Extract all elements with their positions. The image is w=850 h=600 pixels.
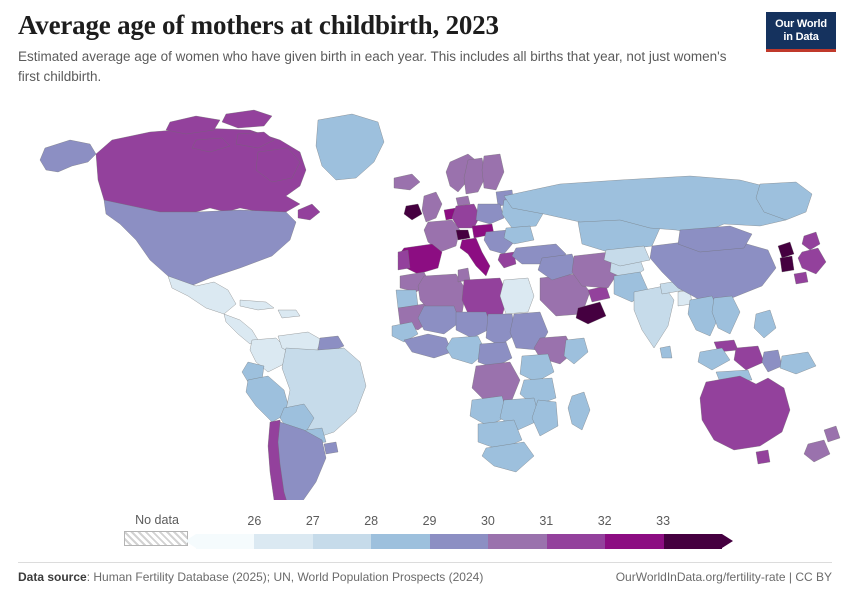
legend-no-data[interactable]: No data — [124, 513, 190, 546]
legend-bin-8[interactable] — [664, 534, 722, 549]
country-hispaniola[interactable] — [278, 310, 300, 318]
legend-tick-7: 33 — [656, 514, 670, 528]
country-kenya-uganda[interactable] — [520, 354, 554, 382]
legend-no-data-label: No data — [124, 513, 190, 527]
country-switzerland[interactable] — [456, 230, 470, 240]
chart-footer: Data source: Human Fertility Database (2… — [18, 562, 832, 594]
country-sri-lanka[interactable] — [660, 346, 672, 358]
page-title: Average age of mothers at childbirth, 20… — [18, 10, 832, 40]
legend-bin-6[interactable] — [547, 534, 605, 549]
owid-chart-root: Average age of mothers at childbirth, 20… — [0, 0, 850, 600]
country-india[interactable] — [634, 286, 674, 348]
map-legend: No data 26 27 28 29 30 31 32 33 — [0, 505, 850, 553]
legend-tick-6: 32 — [598, 514, 612, 528]
country-japan[interactable] — [802, 232, 820, 250]
legend-bin-5[interactable] — [488, 534, 546, 549]
footer-source-text: Human Fertility Database (2025); UN, Wor… — [93, 570, 483, 584]
country-mongolia[interactable] — [678, 226, 752, 252]
country-south-korea[interactable] — [780, 256, 794, 272]
country-central-america[interactable] — [224, 314, 258, 344]
legend-color-ramp[interactable] — [196, 534, 722, 549]
country-denmark[interactable] — [456, 196, 470, 206]
country-new-zealand-south[interactable] — [804, 440, 830, 462]
country-egypt[interactable] — [500, 278, 534, 314]
country-alaska[interactable] — [40, 140, 96, 172]
legend-no-data-swatch — [124, 531, 188, 546]
country-poland[interactable] — [476, 204, 504, 224]
logo-line-2: in Data — [783, 31, 818, 44]
chart-subtitle: Estimated average age of women who have … — [18, 47, 733, 86]
country-mali[interactable] — [418, 306, 460, 334]
legend-tick-labels: 26 27 28 29 30 31 32 33 — [196, 514, 722, 534]
country-finland[interactable] — [482, 154, 504, 190]
country-canada-arctic-2[interactable] — [222, 110, 272, 128]
country-indonesia-borneo[interactable] — [734, 346, 764, 370]
legend-tick-3: 29 — [423, 514, 437, 528]
legend-ramp-cap-left — [185, 534, 196, 548]
footer-source-label: Data source — [18, 570, 87, 584]
country-japan-kyushu[interactable] — [794, 272, 808, 284]
country-new-zealand-north[interactable] — [824, 426, 840, 442]
country-indonesia-sulawesi[interactable] — [762, 350, 782, 372]
country-uruguay[interactable] — [324, 442, 338, 454]
country-ireland[interactable] — [404, 204, 422, 220]
country-papua-new-guinea[interactable] — [780, 352, 816, 374]
legend-bin-4[interactable] — [430, 534, 488, 549]
country-vietnam-laos[interactable] — [712, 296, 740, 334]
legend-tick-0: 26 — [247, 514, 261, 528]
country-north-korea[interactable] — [778, 242, 794, 258]
map-svg — [0, 100, 850, 500]
country-uae[interactable] — [588, 286, 610, 302]
country-south-africa[interactable] — [482, 442, 534, 472]
country-philippines[interactable] — [754, 310, 776, 338]
country-somalia[interactable] — [564, 338, 588, 364]
our-world-in-data-logo[interactable]: Our World in Data — [766, 12, 836, 52]
legend-bin-7[interactable] — [605, 534, 663, 549]
country-japan-honshu[interactable] — [798, 248, 826, 274]
country-united-states[interactable] — [104, 200, 296, 288]
country-tasmania[interactable] — [756, 450, 770, 464]
country-cuba[interactable] — [240, 300, 274, 310]
country-united-kingdom[interactable] — [422, 192, 442, 222]
legend-bin-2[interactable] — [313, 534, 371, 549]
country-mexico[interactable] — [168, 276, 236, 314]
legend-tick-4: 30 — [481, 514, 495, 528]
legend-ramp-cap-right — [722, 534, 733, 548]
legend-bin-0[interactable] — [196, 534, 254, 549]
map-countries — [40, 110, 840, 500]
footer-link[interactable]: OurWorldInData.org/fertility-rate | CC B… — [616, 570, 832, 584]
country-greenland[interactable] — [316, 114, 384, 180]
legend-tick-2: 28 — [364, 514, 378, 528]
country-portugal[interactable] — [398, 250, 410, 270]
country-germany[interactable] — [452, 204, 480, 228]
country-iceland[interactable] — [394, 174, 420, 190]
country-russia[interactable] — [504, 176, 796, 234]
logo-line-1: Our World — [775, 18, 827, 31]
footer-data-source: Data source: Human Fertility Database (2… — [18, 570, 483, 584]
country-newfoundland[interactable] — [298, 204, 320, 220]
legend-bin-1[interactable] — [254, 534, 312, 549]
country-australia[interactable] — [700, 376, 790, 450]
legend-bin-3[interactable] — [371, 534, 429, 549]
legend-tick-1: 27 — [306, 514, 320, 528]
chart-header: Average age of mothers at childbirth, 20… — [18, 10, 832, 86]
world-choropleth-map[interactable] — [0, 100, 850, 500]
country-madagascar[interactable] — [568, 392, 590, 430]
legend-ramp-bins — [196, 534, 722, 549]
legend-tick-5: 31 — [539, 514, 553, 528]
